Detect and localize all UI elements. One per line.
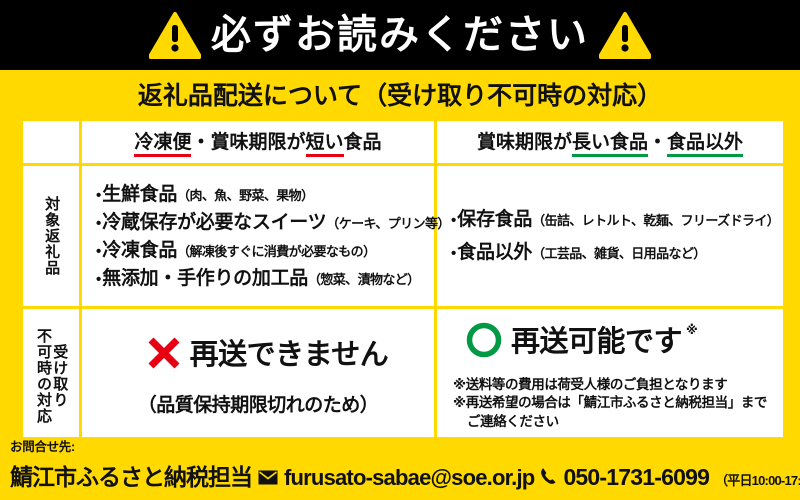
header-right-part2: 長い食品 bbox=[572, 132, 648, 157]
asterisk-superscript: ※ bbox=[686, 323, 698, 337]
bullet-dot-icon: • bbox=[451, 245, 456, 262]
mail-icon bbox=[258, 470, 278, 490]
header-left-part4: 食品 bbox=[344, 132, 382, 153]
header-bar: 必ずお読みください bbox=[0, 0, 800, 70]
item-sub: （工芸品、雑貨、日用品など） bbox=[532, 246, 706, 261]
header-left-part1: 冷凍便 bbox=[134, 132, 191, 157]
item-sub: （缶詰、レトルト、乾麺、フリーズドライ） bbox=[532, 213, 779, 228]
phone-hours: （平日10:00-17:00対応） bbox=[715, 470, 800, 489]
list-item: •保存食品（缶詰、レトルト、乾麺、フリーズドライ） bbox=[451, 210, 777, 229]
note-line: ※送料等の費用は荷受人様のご負担となります bbox=[453, 376, 773, 394]
phone-icon bbox=[540, 467, 557, 490]
item-sub: （ケーキ、プリン等） bbox=[326, 216, 449, 231]
bullet-dot-icon: • bbox=[96, 215, 101, 232]
action-left-sub: （品質保持期限切れのため） bbox=[138, 390, 379, 417]
header-left-part3: 短い bbox=[306, 132, 344, 157]
list-item: •冷蔵保存が必要なスイーツ（ケーキ、プリン等） bbox=[96, 213, 428, 232]
row-label-text: 対象返礼品 bbox=[43, 196, 59, 276]
bullet-dot-icon: • bbox=[96, 243, 101, 260]
header-left-sep: ・ bbox=[191, 132, 210, 153]
bullet-dot-icon: • bbox=[96, 187, 101, 204]
note-line: ご連絡ください bbox=[453, 413, 773, 431]
item-main: 無添加・手作りの加工品 bbox=[102, 268, 308, 289]
corner-cell bbox=[22, 120, 81, 165]
note-line: ※再送希望の場合は「鯖江市ふるさと納税担当」まで bbox=[453, 394, 773, 412]
comparison-table: 冷凍便・賞味期限が短い食品 賞味期限が長い食品・食品以外 対象返礼品 bbox=[20, 118, 780, 437]
action-left-cell: 再送できません （品質保持期限切れのため） bbox=[81, 308, 436, 445]
action-right-text: 再送可能です bbox=[511, 328, 682, 357]
table-row: 受け取り 不可時の対応 再送できませ bbox=[22, 308, 785, 445]
row-label-unreceived-action: 受け取り 不可時の対応 bbox=[22, 308, 81, 445]
list-item: •無添加・手作りの加工品（惣菜、漬物など） bbox=[96, 269, 428, 288]
table-row: 対象返礼品 •生鮮食品（肉、魚、野菜、果物） •冷蔵保存が必要なスイーツ（ケーキ… bbox=[22, 165, 785, 308]
row-label-target-items: 対象返礼品 bbox=[22, 165, 81, 308]
notice-page: 必ずお読みください 返礼品配送について（受け取り不可時の対応） 冷凍便・賞味期限… bbox=[0, 0, 800, 500]
item-main: 食品以外 bbox=[457, 242, 532, 263]
header-right-part1: 賞味期限が bbox=[477, 132, 572, 153]
row-label-text-left: 不可時の対応 bbox=[35, 328, 51, 424]
column-header-left: 冷凍便・賞味期限が短い食品 bbox=[81, 120, 436, 165]
list-item: •生鮮食品（肉、魚、野菜、果物） bbox=[96, 185, 428, 204]
cross-mark-icon bbox=[146, 335, 182, 376]
circle-mark-icon bbox=[465, 321, 503, 364]
footer-label: お問合せ先: bbox=[10, 441, 790, 455]
bullet-dot-icon: • bbox=[451, 212, 456, 229]
email-link[interactable]: furusato-sabae@soe.or.jp bbox=[284, 465, 534, 491]
item-main: 冷蔵保存が必要なスイーツ bbox=[102, 212, 326, 233]
phone-number[interactable]: 050-1731-6099 bbox=[563, 464, 709, 491]
item-sub: （解凍後すぐに消費が必要なもの） bbox=[177, 244, 375, 259]
column-header-right: 賞味期限が長い食品・食品以外 bbox=[436, 120, 785, 165]
item-sub: （惣菜、漬物など） bbox=[308, 272, 420, 287]
item-main: 生鮮食品 bbox=[102, 184, 177, 205]
list-item: •食品以外（工芸品、雑貨、日用品など） bbox=[451, 243, 777, 262]
action-right-notes: ※送料等の費用は荷受人様のご負担となります ※再送希望の場合は「鯖江市ふるさと納… bbox=[447, 376, 773, 431]
subbanner-title: 返礼品配送について（受け取り不可時の対応） bbox=[138, 76, 662, 112]
item-main: 冷凍食品 bbox=[102, 240, 177, 261]
header-right-part3: 食品以外 bbox=[667, 132, 743, 157]
action-right-cell: 再送可能です ※ ※送料等の費用は荷受人様のご負担となります ※再送希望の場合は… bbox=[436, 308, 785, 445]
footer-department: 鯖江市ふるさと納税担当 bbox=[10, 458, 252, 492]
list-item: •冷凍食品（解凍後すぐに消費が必要なもの） bbox=[96, 241, 428, 260]
page-title: 必ずお読みください bbox=[211, 15, 589, 55]
subbanner: 返礼品配送について（受け取り不可時の対応） bbox=[0, 70, 800, 118]
item-sub: （肉、魚、野菜、果物） bbox=[177, 188, 313, 203]
row-label-text-right: 受け取り bbox=[51, 344, 67, 408]
warning-triangle-icon bbox=[599, 11, 651, 59]
item-main: 保存食品 bbox=[457, 209, 532, 230]
target-items-right-cell: •保存食品（缶詰、レトルト、乾麺、フリーズドライ） •食品以外（工芸品、雑貨、日… bbox=[436, 165, 785, 308]
footer-contact: お問合せ先: 鯖江市ふるさと納税担当 furusato-sabae@soe.or… bbox=[0, 437, 800, 500]
header-right-sep: ・ bbox=[648, 132, 667, 153]
bullet-dot-icon: • bbox=[96, 271, 101, 288]
target-items-left-cell: •生鮮食品（肉、魚、野菜、果物） •冷蔵保存が必要なスイーツ（ケーキ、プリン等）… bbox=[81, 165, 436, 308]
action-left-text: 再送できません bbox=[190, 341, 389, 370]
warning-triangle-icon bbox=[149, 11, 201, 59]
header-left-part2: 賞味期限が bbox=[210, 132, 305, 153]
table-header-row: 冷凍便・賞味期限が短い食品 賞味期限が長い食品・食品以外 bbox=[22, 120, 785, 165]
